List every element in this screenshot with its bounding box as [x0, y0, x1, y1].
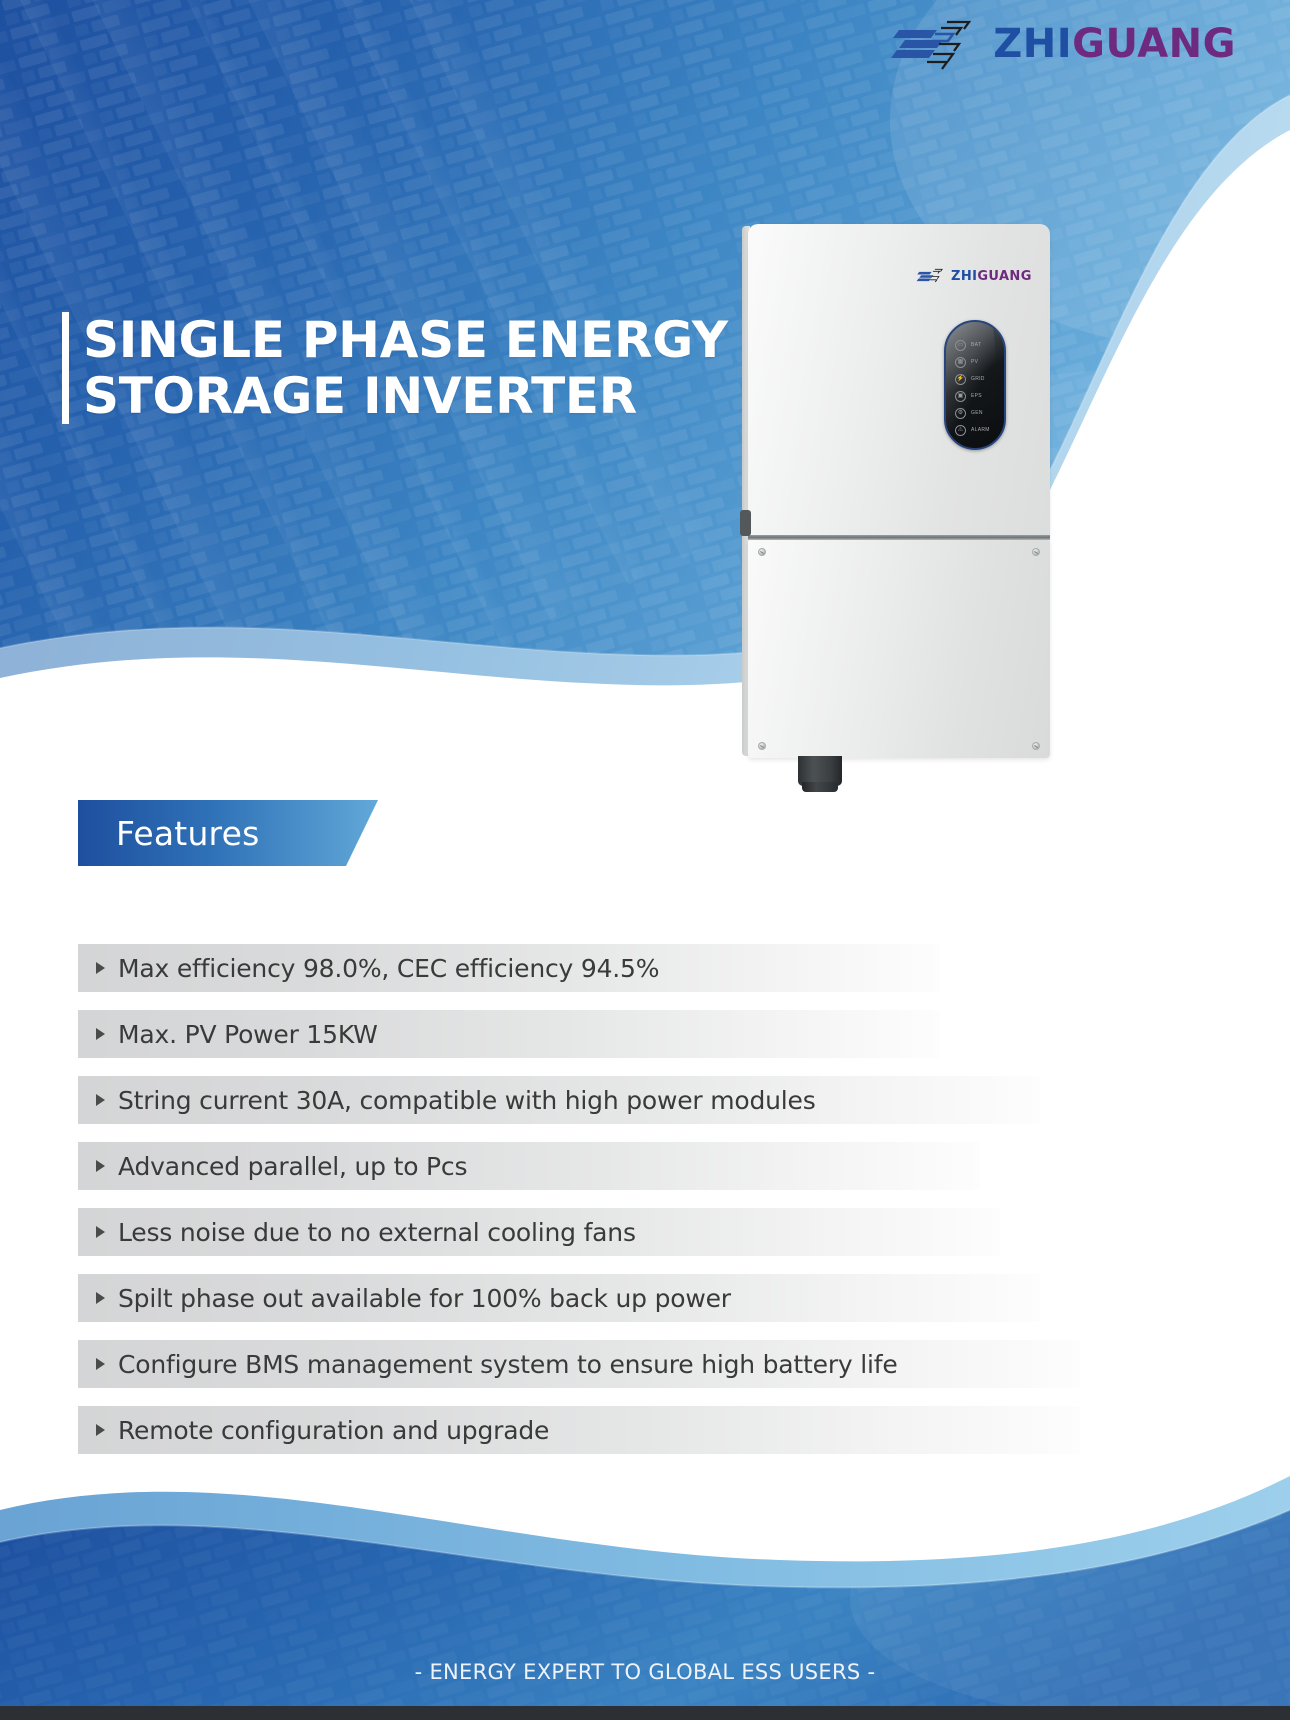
- feature-item: Spilt phase out available for 100% back …: [78, 1274, 1040, 1322]
- brand-wordmark: ZHIGUANG: [993, 24, 1236, 64]
- footer-bottom-strip: [0, 1706, 1290, 1720]
- led-row-grid: ⚡ GRID: [955, 373, 990, 385]
- feature-item: Advanced parallel, up to Pcs: [78, 1142, 980, 1190]
- led-label-grid: GRID: [971, 376, 985, 382]
- led-row-pv: ▦ PV: [955, 356, 990, 368]
- led-label-bat: BAT: [971, 342, 981, 348]
- features-banner: Features: [78, 800, 378, 866]
- feature-item: Max. PV Power 15KW: [78, 1010, 940, 1058]
- features-list: Max efficiency 98.0%, CEC efficiency 94.…: [78, 944, 1080, 1472]
- feature-text: Less noise due to no external cooling fa…: [118, 1218, 636, 1247]
- feature-item: Max efficiency 98.0%, CEC efficiency 94.…: [78, 944, 940, 992]
- title-accent-bar: [62, 312, 69, 424]
- bullet-triangle-icon: [96, 1292, 105, 1304]
- alarm-warning-icon: ⚠: [955, 425, 966, 436]
- title-text: SINGLE PHASE ENERGY STORAGE INVERTER: [83, 312, 728, 424]
- bullet-triangle-icon: [96, 1028, 105, 1040]
- feature-item: String current 30A, compatible with high…: [78, 1076, 1040, 1124]
- feature-text: Configure BMS management system to ensur…: [118, 1350, 898, 1379]
- battery-icon: ▭: [955, 340, 966, 351]
- features-heading: Features: [116, 800, 260, 866]
- product-screw-top-left: [758, 548, 766, 556]
- led-label-pv: PV: [971, 359, 978, 365]
- led-label-eps: EPS: [971, 393, 982, 399]
- header-logo: ZHIGUANG: [891, 18, 1236, 70]
- page-title: SINGLE PHASE ENERGY STORAGE INVERTER: [62, 312, 728, 424]
- led-label-alarm: ALARM: [971, 427, 990, 433]
- feature-item: Less noise due to no external cooling fa…: [78, 1208, 1000, 1256]
- bullet-triangle-icon: [96, 1094, 105, 1106]
- feature-item: Configure BMS management system to ensur…: [78, 1340, 1080, 1388]
- bullet-triangle-icon: [96, 962, 105, 974]
- led-row-alarm: ⚠ ALARM: [955, 424, 990, 436]
- brand-wordmark-guang: GUANG: [1072, 21, 1236, 67]
- title-line-1: SINGLE PHASE ENERGY: [83, 312, 728, 368]
- led-indicator-list: ▭ BAT ▦ PV ⚡ GRID ▣ EPS ⚙ GEN: [955, 339, 990, 436]
- feature-text: Max efficiency 98.0%, CEC efficiency 94.…: [118, 954, 659, 983]
- feature-text: Max. PV Power 15KW: [118, 1020, 378, 1049]
- feature-text: Advanced parallel, up to Pcs: [118, 1152, 467, 1181]
- product-brand-wordmark: ZHIGUANG: [951, 269, 1032, 284]
- brand-wordmark-zhi: ZHI: [993, 21, 1072, 67]
- led-row-eps: ▣ EPS: [955, 390, 990, 402]
- product-screw-bottom-left: [758, 742, 766, 750]
- feature-item: Remote configuration and upgrade: [78, 1406, 1080, 1454]
- product-logo-mark-icon: [916, 268, 946, 285]
- datasheet-page: ZHIGUANG SINGLE PHASE ENERGY STORAGE INV…: [0, 0, 1290, 1720]
- led-label-gen: GEN: [971, 410, 983, 416]
- bullet-triangle-icon: [96, 1226, 105, 1238]
- product-screw-top-right: [1032, 548, 1040, 556]
- zhiguang-logo-mark-icon: [891, 18, 979, 70]
- product-side-latch: [740, 510, 751, 536]
- product-image: ZHIGUANG ▭ BAT ▦ PV ⚡ GRID ▣ EPS: [748, 224, 1050, 766]
- product-screw-bottom-right: [1032, 742, 1040, 750]
- product-conduit-cap: [802, 782, 838, 792]
- footer-tagline: - ENERGY EXPERT TO GLOBAL ESS USERS -: [0, 1660, 1290, 1684]
- product-brand-guang: GUANG: [977, 269, 1031, 284]
- led-row-gen: ⚙ GEN: [955, 407, 990, 419]
- status-display-panel: ▭ BAT ▦ PV ⚡ GRID ▣ EPS ⚙ GEN: [944, 320, 1006, 450]
- feature-text: String current 30A, compatible with high…: [118, 1086, 816, 1115]
- product-brand-logo: ZHIGUANG: [916, 268, 1032, 285]
- feature-text: Remote configuration and upgrade: [118, 1416, 549, 1445]
- product-brand-zhi: ZHI: [951, 269, 977, 284]
- led-row-bat: ▭ BAT: [955, 339, 990, 351]
- generator-icon: ⚙: [955, 408, 966, 419]
- solar-panel-icon: ▦: [955, 357, 966, 368]
- feature-text: Spilt phase out available for 100% back …: [118, 1284, 731, 1313]
- product-lower-housing: [748, 540, 1050, 758]
- bullet-triangle-icon: [96, 1160, 105, 1172]
- grid-icon: ⚡: [955, 374, 966, 385]
- eps-outlet-icon: ▣: [955, 391, 966, 402]
- bullet-triangle-icon: [96, 1358, 105, 1370]
- bullet-triangle-icon: [96, 1424, 105, 1436]
- title-line-2: STORAGE INVERTER: [83, 368, 728, 424]
